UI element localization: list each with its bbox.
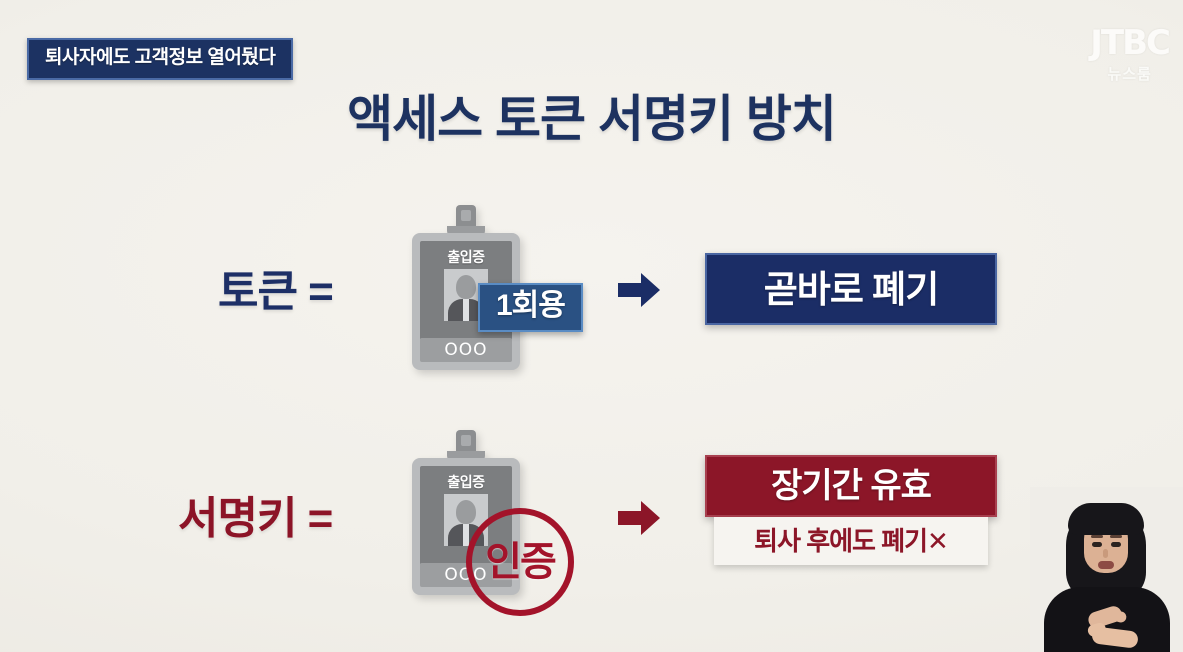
- signer-nose: [1103, 549, 1108, 558]
- badge-photo-tie-2: [463, 524, 469, 546]
- signer-brow-left: [1091, 535, 1103, 538]
- news-banner-text: 퇴사자에도 고객정보 열어뒀다: [45, 47, 275, 69]
- sign-language-interpreter: [1030, 487, 1183, 652]
- result-box-token: 곧바로 폐기: [705, 253, 997, 325]
- badge-pass-label-2: 출입증: [420, 472, 512, 492]
- badge-name-strip: OOO: [420, 338, 512, 362]
- badge-photo-tie: [463, 299, 469, 321]
- badge-pass-label: 출입증: [420, 247, 512, 267]
- diagram-row-signing-key: 서명키 = 출입증 OOO 인증: [0, 420, 1183, 630]
- result-box-token-text: 곧바로 폐기: [764, 271, 938, 308]
- result-box-signing-key-text: 장기간 유효: [771, 469, 931, 503]
- signer-mouth: [1098, 561, 1114, 569]
- news-banner: 퇴사자에도 고객정보 열어뒀다: [27, 38, 293, 80]
- overlay-chip-single-use: 1회용: [478, 283, 583, 332]
- signer-eye-right: [1111, 542, 1121, 547]
- signer-hair-front: [1068, 503, 1144, 535]
- signer-brow-right: [1110, 535, 1122, 538]
- badge-photo-head: [456, 275, 476, 299]
- overlay-stamp-authentication-text: 인증: [485, 542, 555, 582]
- channel-logo-subtitle: 뉴스룸: [1090, 67, 1169, 82]
- result-box-signing-key: 장기간 유효: [705, 455, 997, 517]
- diagram-row-token: 토큰 = 출입증 OOO 1회용: [0, 195, 1183, 405]
- arrow-right-icon-signing-key: [616, 498, 662, 538]
- signer-eye-left: [1092, 542, 1102, 547]
- overlay-stamp-authentication: 인증: [466, 508, 574, 616]
- result-note-signing-key-text: 퇴사 후에도 폐기✕: [754, 528, 948, 554]
- channel-logo-mark: JTBC: [1090, 26, 1169, 60]
- row-label-signing-key: 서명키 =: [178, 482, 332, 546]
- row-label-token: 토큰 =: [218, 255, 333, 319]
- channel-logo: JTBC 뉴스룸: [1090, 26, 1169, 82]
- overlay-chip-single-use-text: 1회용: [496, 289, 565, 322]
- page-title: 액세스 토큰 서명키 방치: [0, 92, 1183, 147]
- badge-photo-head-2: [456, 500, 476, 524]
- result-note-signing-key: 퇴사 후에도 폐기✕: [714, 517, 988, 565]
- badge-name-text: OOO: [420, 340, 512, 360]
- arrow-right-icon-token: [616, 270, 662, 310]
- broadcast-graphic-stage: 퇴사자에도 고객정보 열어뒀다 JTBC 뉴스룸 액세스 토큰 서명키 방치 토…: [0, 0, 1183, 652]
